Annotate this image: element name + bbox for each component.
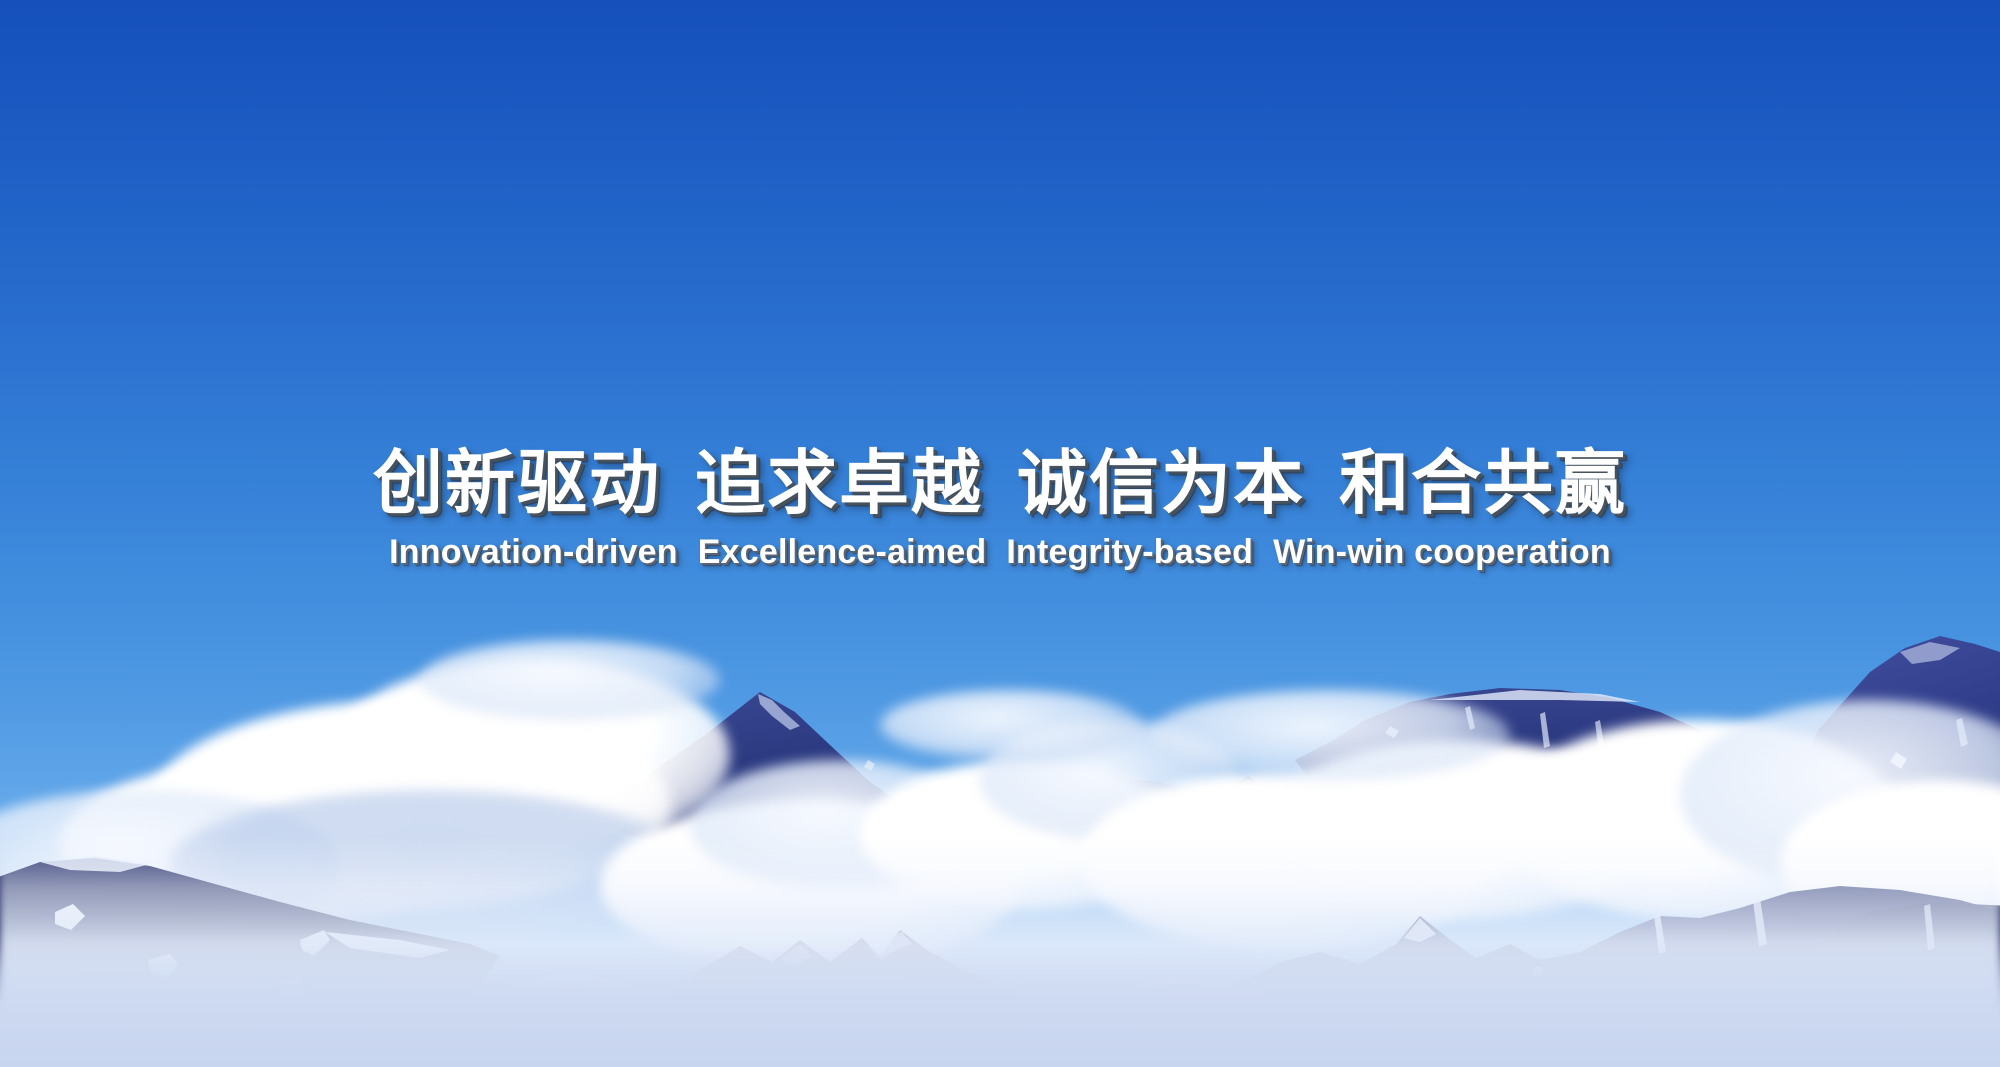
slogan-cn-phrase-1: 创新驱动 [373, 444, 661, 522]
slogan-cn-phrase-3: 诚信为本 [1017, 444, 1305, 522]
slogan-en-phrase-3: Integrity-based [1006, 533, 1253, 571]
slogan-cn-phrase-2: 追求卓越 [695, 444, 983, 522]
slogan-en-phrase-1: Innovation-driven [389, 533, 678, 571]
slogan-english-line: Innovation-drivenExcellence-aimedIntegri… [0, 533, 2000, 572]
cloud-wisp [420, 640, 720, 720]
slogan-block: 创新驱动追求卓越诚信为本和合共赢 Innovation-drivenExcell… [0, 448, 2000, 572]
slogan-en-phrase-2: Excellence-aimed [698, 533, 987, 571]
slogan-en-phrase-4: Win-win cooperation [1273, 533, 1611, 571]
cloud-wisp [880, 690, 1140, 760]
low-fog-base [0, 947, 2000, 1067]
slogan-cn-phrase-4: 和合共赢 [1339, 444, 1627, 522]
slogan-chinese-line: 创新驱动追求卓越诚信为本和合共赢 [0, 448, 2000, 519]
slogan-banner: 创新驱动追求卓越诚信为本和合共赢 Innovation-drivenExcell… [0, 0, 2000, 1067]
cloud-wisp [1150, 690, 1510, 780]
